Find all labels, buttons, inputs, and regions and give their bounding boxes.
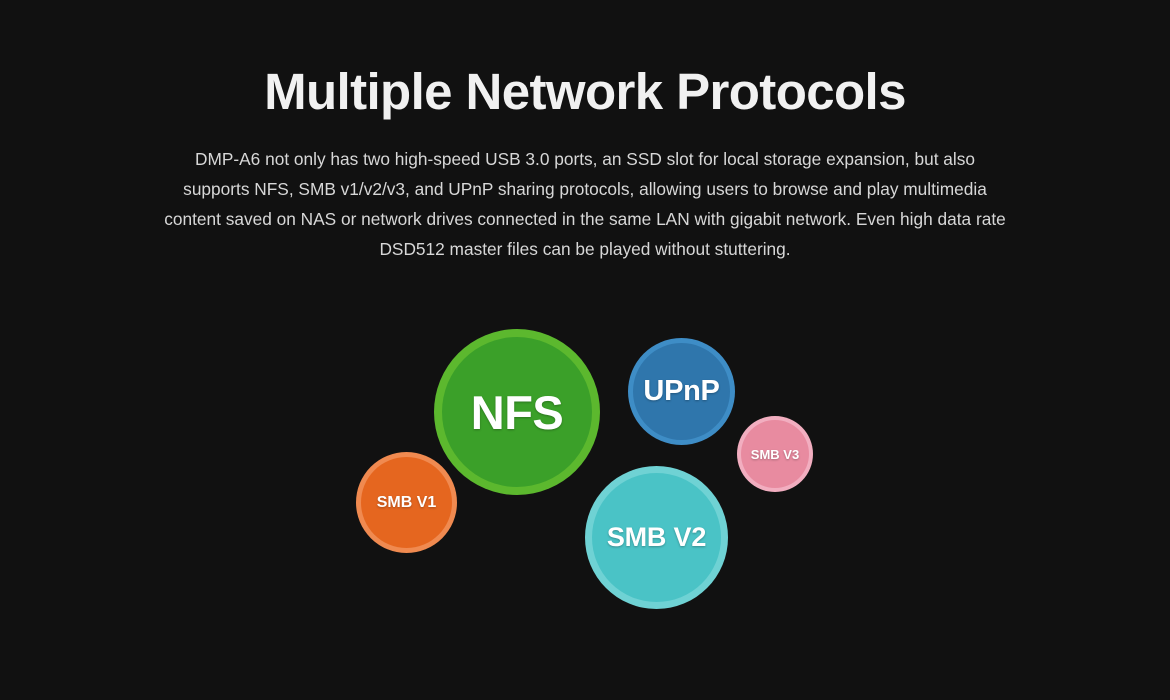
protocol-bubble-smb-v2: SMB V2 bbox=[592, 473, 721, 602]
protocol-bubble-upnp: UPnP bbox=[633, 343, 730, 440]
protocol-bubble-cluster: NFS UPnP SMB V2 SMB V1 SMB V3 bbox=[0, 0, 1170, 700]
protocol-bubble-upnp-label: UPnP bbox=[643, 377, 719, 406]
protocol-bubble-smb-v1-label: SMB V1 bbox=[377, 495, 437, 511]
protocol-bubble-smb-v3: SMB V3 bbox=[741, 420, 809, 488]
protocol-bubble-nfs-label: NFS bbox=[471, 389, 564, 436]
protocol-bubble-smb-v3-label: SMB V3 bbox=[751, 448, 799, 461]
protocol-bubble-nfs: NFS bbox=[442, 337, 592, 487]
protocol-bubble-smb-v1: SMB V1 bbox=[361, 457, 452, 548]
protocols-slide: Multiple Network Protocols DMP-A6 not on… bbox=[0, 0, 1170, 700]
protocol-bubble-smb-v2-label: SMB V2 bbox=[607, 524, 706, 551]
